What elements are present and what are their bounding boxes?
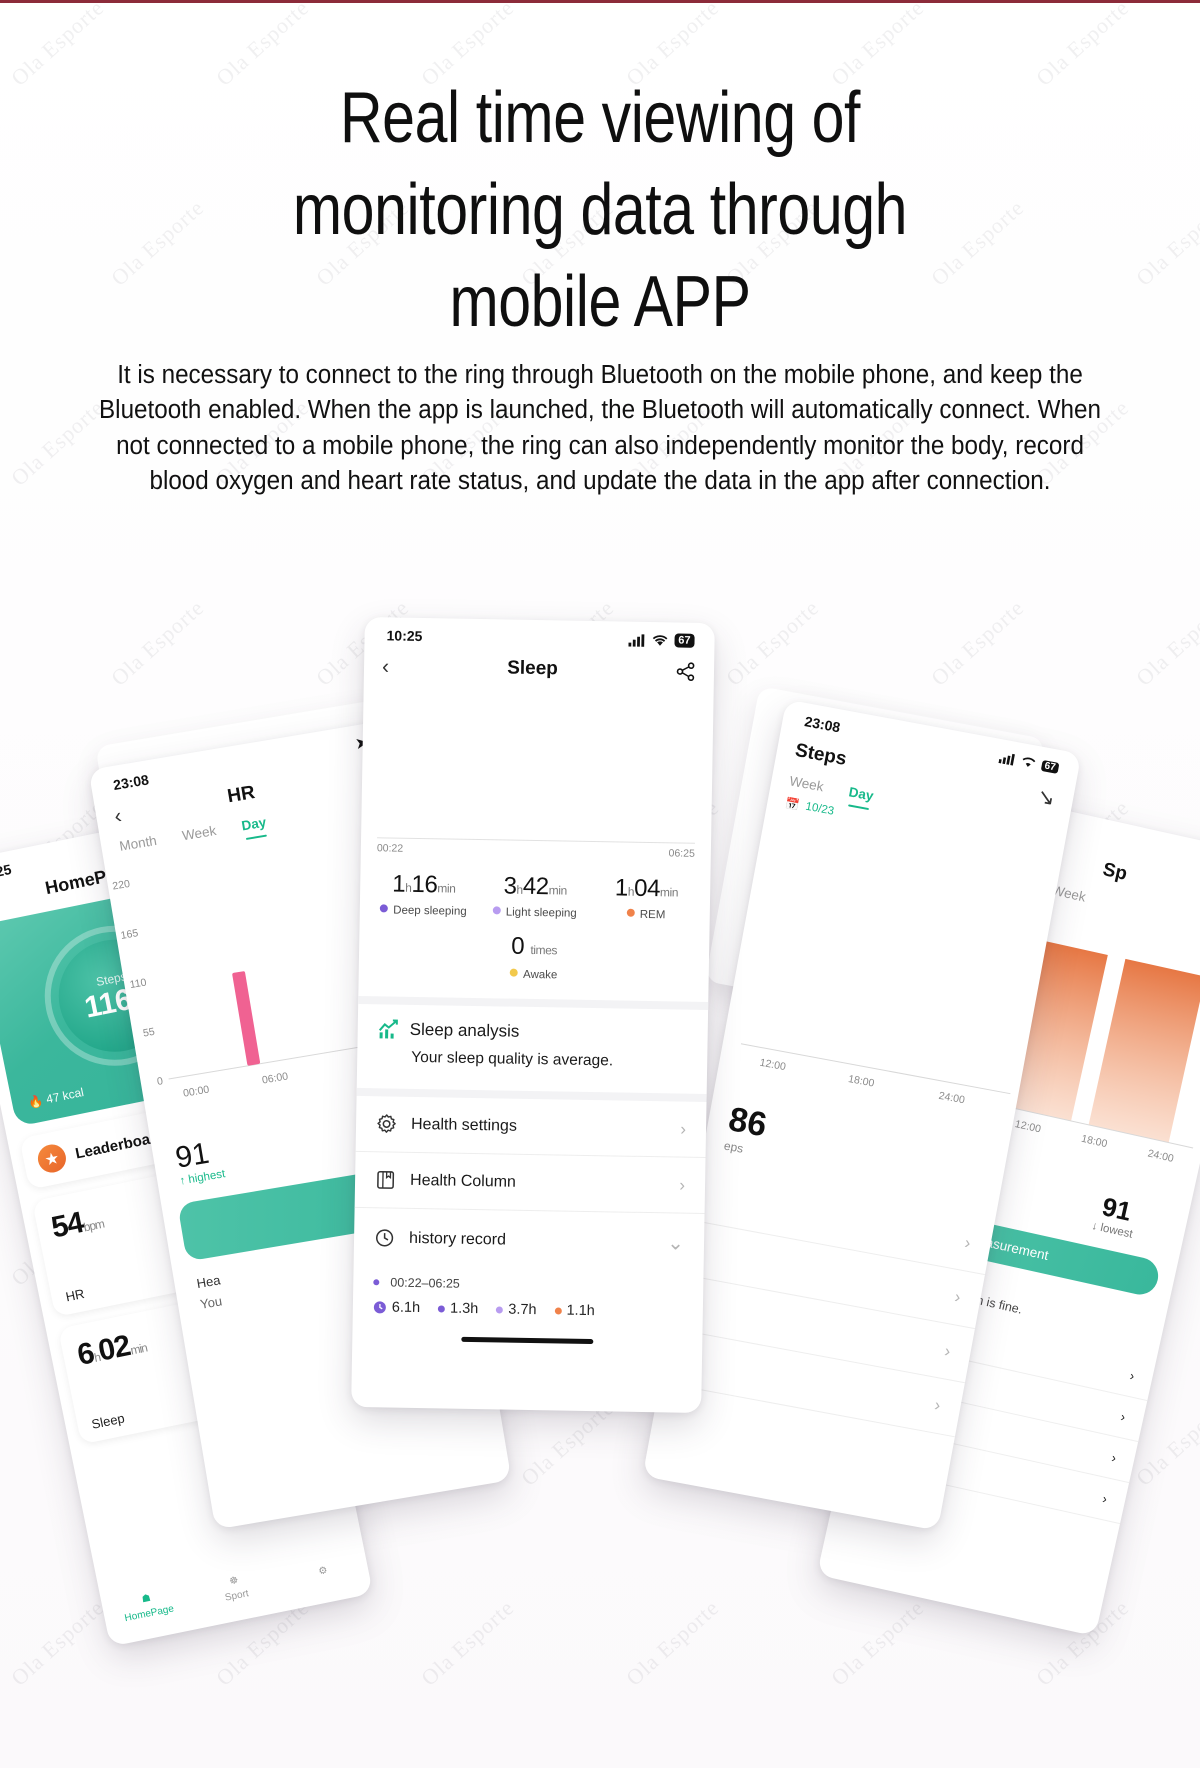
spo2-title: Sp [1101,859,1129,886]
rem-hours: 1 [615,874,628,901]
hr-back-icon[interactable]: ‹ [113,805,123,827]
page-title: Real time viewing of monitoring data thr… [108,72,1092,348]
history-range-text: 00:22–06:25 [390,1276,460,1291]
history-dot-3 [554,1307,561,1314]
history-range-dot [373,1279,379,1285]
sleep-awake-value: 0 times [359,930,709,964]
sleep-analysis-section: Sleep analysis Your sleep quality is ave… [357,1004,708,1094]
arrow-up-icon: ↑ [179,1175,187,1188]
sleep-awake-label: Awake [359,966,709,984]
sleep-chart-axis: 00:22 06:25 [377,837,695,860]
chart-up-icon [378,1018,400,1040]
steps-xtick-1800: 18:00 [847,1073,875,1090]
sleep-metric-name: Sleep [90,1410,126,1431]
clock-icon [374,1227,395,1248]
hr-ytick-220: 220 [112,878,131,893]
gear-icon [376,1113,397,1134]
calendar-icon: 📅 [784,796,801,812]
sleep-minutes: 02 [95,1329,132,1368]
wifi-icon [651,634,668,647]
hr-metric-name: HR [64,1286,85,1304]
history-value-3-text: 1.1h [566,1303,595,1319]
steps-title: Steps [793,740,848,771]
chevron-down-icon: ⌄ [667,1230,684,1255]
arrow-down-icon: ↓ [1090,1220,1098,1233]
legend-dot-awake [510,969,518,977]
sleep-analysis-subtitle: Your sleep quality is average. [411,1049,687,1072]
homepage-tabbar[interactable]: ☗ HomePage ☸ Sport ⚙ [98,1531,373,1647]
spo2-xtick-1200: 12:00 [1014,1118,1042,1135]
tab-sport-label: Sport [224,1588,250,1604]
phone-mockup-stage: 10:25 HomePage Steps 1162 ⚑ 10000 🔥 47 k… [0,600,1200,1768]
history-value-1-text: 1.3h [450,1301,479,1317]
chevron-right-icon: › [680,1119,686,1139]
chevron-right-icon: › [1101,1490,1108,1506]
sleep-minutes-unit: min [129,1341,148,1358]
rem-minutes-unit: min [660,885,678,899]
menu-label-history-record: history record [409,1229,654,1251]
sleep-stat-rem-label: REM [590,908,702,922]
sleep-analysis-title: Sleep analysis [410,1020,520,1042]
history-value-2: 3.7h [496,1301,537,1318]
clock-small-icon [373,1300,387,1314]
signal-bars-icon [998,751,1016,766]
hr-ytick-55: 55 [142,1026,156,1040]
sleep-axis-end: 06:25 [668,847,694,859]
brand-top-rule [0,0,1200,3]
sleep-hypnogram-svg [371,695,703,841]
wifi-icon [1020,755,1037,770]
trophy-icon: ★ [35,1142,68,1175]
chevron-right-icon: › [1129,1367,1136,1383]
steps-xtick-1200: 12:00 [759,1057,787,1074]
history-values: 6.1h 1.3h 3.7h 1.1h [373,1299,683,1320]
hr-ytick-165: 165 [120,927,139,942]
hr-value: 54 [49,1206,86,1245]
watermark-text: Ola Esporte [0,195,4,292]
awake-label-text: Awake [523,969,558,982]
history-dot-1 [438,1305,445,1312]
book-icon [375,1169,396,1190]
history-value-1: 1.3h [438,1300,479,1317]
awake-unit: times [530,943,557,957]
watermark-text: Ola Esporte [1131,195,1200,292]
sleep-stat-deep-label: Deep sleeping [368,904,480,918]
sleep-awake-block: 0 times Awake [359,930,710,984]
spo2-xtick-2400: 24:00 [1147,1147,1175,1164]
history-dot-2 [496,1306,503,1313]
calories-readout: 🔥 47 kcal [27,1085,85,1110]
sport-icon: ☸ [228,1575,239,1588]
home-indicator [461,1337,593,1344]
deep-minutes-unit: min [437,881,455,895]
awake-count: 0 [511,933,524,960]
hr-tab-week[interactable]: Week [181,823,217,843]
history-value-2-text: 3.7h [508,1302,537,1318]
menu-label-health-settings: Health settings [411,1115,667,1137]
sleep-stat-deep-value: 1h16min [368,870,480,900]
sleep-stats-row: 1h16min Deep sleeping 3h42min Light slee… [360,870,711,922]
flame-icon: 🔥 [27,1093,44,1110]
tab-sport[interactable]: ☸ Sport [185,1548,285,1629]
steps-menu[interactable]: › › › › [660,1166,995,1437]
battery-icon: 67 [1041,759,1060,773]
sleep-axis-start: 00:22 [377,842,403,854]
rem-minutes: 04 [634,875,660,902]
hr-xtick-0600: 06:00 [261,1070,289,1086]
calories-value: 47 kcal [45,1085,85,1106]
sleep-stat-rem-value: 1h04min [591,874,703,904]
chevron-right-icon: › [943,1341,952,1362]
sleep-status-icons: 67 [628,633,694,648]
sleep-stat-light-label: Light sleeping [479,906,591,920]
hr-ytick-110: 110 [129,976,148,991]
share-icon[interactable]: ↘ [1036,785,1057,809]
sleep-analysis-header: Sleep analysis [378,1018,688,1045]
share-icon[interactable] [676,661,696,681]
signal-bars-icon [628,633,645,646]
gear-icon: ⚙ [317,1565,328,1578]
chevron-right-icon: › [1110,1449,1117,1465]
chevron-right-icon: › [963,1233,972,1254]
battery-icon: 67 [674,633,694,647]
legend-dot-rem [627,909,635,917]
legend-dot-light [493,906,501,914]
steps-xtick-2400: 24:00 [938,1090,966,1107]
page-title-line-3: mobile APP [108,256,1092,348]
spo2-xtick-1800: 18:00 [1080,1133,1108,1150]
page-title-line-2: monitoring data through [108,164,1092,256]
hr-ytick-0: 0 [156,1075,164,1088]
tab-settings[interactable]: ⚙ [273,1531,373,1612]
history-range: 00:22–06:25 [373,1275,683,1294]
steps-date-text: 10/23 [804,801,834,818]
hr-xtick-0000: 00:00 [182,1084,210,1100]
deep-label-text: Deep sleeping [393,905,467,918]
sleep-status-time: 10:25 [386,627,422,644]
sleep-stat-light-value: 3h42min [479,872,591,902]
phone-sleep[interactable]: 10:25 67 ‹ Sleep [351,617,715,1413]
steps-total-value: 86 [726,1100,770,1144]
deep-minutes: 16 [411,871,437,898]
history-value-0: 6.1h [373,1299,421,1316]
sleep-navbar: ‹ Sleep [364,645,715,691]
light-minutes-unit: min [549,883,567,897]
chevron-right-icon: › [1119,1408,1126,1424]
tab-homepage[interactable]: ☗ HomePage [98,1566,198,1647]
sleep-title: Sleep [507,657,558,680]
deep-hours: 1 [392,871,405,898]
watermark-text: Ola Esporte [6,0,109,91]
menu-item-health-column[interactable]: Health Column › [355,1152,706,1214]
hr-unit: bpm [82,1217,105,1235]
sleep-stat-light: 3h42min Light sleeping [479,872,591,920]
menu-item-history-record[interactable]: history record ⌄ [354,1208,705,1273]
light-hours: 3 [503,872,516,899]
spo2-lowest-block: 91 ↓ lowest [1090,1190,1140,1241]
legend-dot-deep [380,904,388,912]
page-title-line-1: Real time viewing of [108,72,1092,164]
menu-label-health-column: Health Column [410,1171,666,1193]
hr-tab-month[interactable]: Month [118,833,157,854]
page-description: It is necessary to connect to the ring t… [97,358,1104,500]
watermark-text: Ola Esporte [6,395,109,492]
hr-tab-day[interactable]: Day [240,815,267,834]
chevron-right-icon: › [953,1287,962,1308]
sleep-stat-rem: 1h04min REM [590,874,702,922]
chevron-left-icon[interactable]: ‹ [382,656,389,677]
chevron-right-icon: › [933,1395,942,1416]
sleep-stat-deep: 1h16min Deep sleeping [368,870,480,918]
chevron-right-icon: › [679,1175,685,1195]
home-icon: ☗ [141,1593,152,1606]
tab-homepage-label: HomePage [124,1603,175,1624]
steps-daily-chart: 12:00 18:00 24:00 [715,812,1061,1142]
sleep-hypnogram-chart [371,695,703,841]
light-label-text: Light sleeping [506,907,577,920]
history-record-body: 00:22–06:25 6.1h 1.3h 3.7h [353,1267,704,1327]
light-minutes: 42 [523,873,549,900]
history-value-0-text: 6.1h [392,1300,421,1316]
rem-label-text: REM [640,909,666,921]
hr-title: HR [226,782,257,808]
history-value-3: 1.1h [554,1302,595,1319]
menu-item-health-settings[interactable]: Health settings › [356,1096,707,1158]
